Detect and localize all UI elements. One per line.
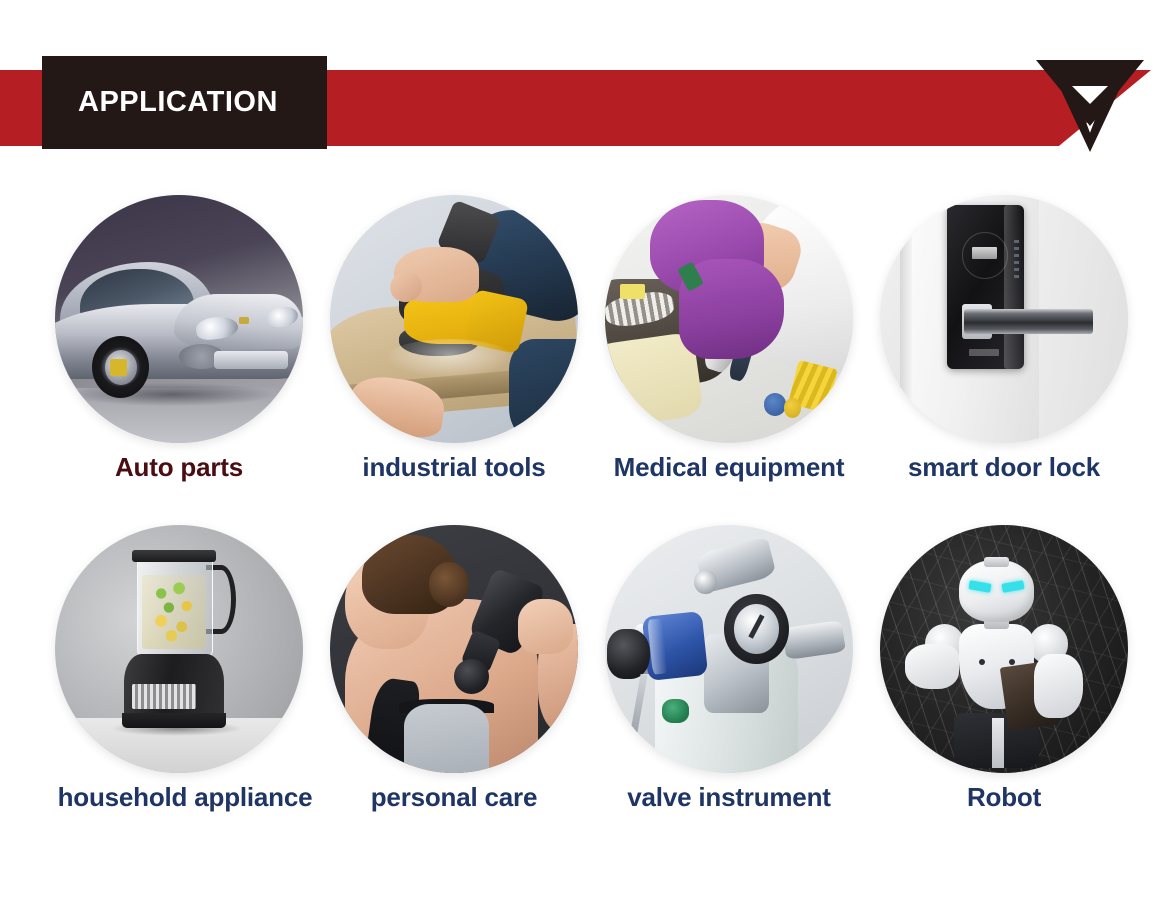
smart-door-lock-image xyxy=(880,195,1128,443)
application-item-smart-door-lock[interactable]: smart door lock xyxy=(858,190,1150,520)
gas-regulator-illustration xyxy=(605,525,853,773)
application-item-medical-equipment[interactable]: Medical equipment xyxy=(583,190,875,520)
brand-triangle-v-logo xyxy=(1036,60,1144,152)
blender-illustration xyxy=(55,525,303,773)
medical-equipment-image xyxy=(605,195,853,443)
household-appliance-image xyxy=(55,525,303,773)
massage-gun-illustration xyxy=(330,525,578,773)
auto-parts-image xyxy=(55,195,303,443)
robot-blackboard-illustration xyxy=(880,525,1128,773)
application-label: smart door lock xyxy=(834,452,1169,483)
application-label: industrial tools xyxy=(308,452,600,483)
application-label: Auto parts xyxy=(33,452,325,483)
orbital-sander-illustration xyxy=(330,195,578,443)
silver-sports-car-illustration xyxy=(55,195,303,443)
application-label: valve instrument xyxy=(559,782,899,813)
application-item-auto-parts[interactable]: Auto parts xyxy=(33,190,325,520)
application-label: personal care xyxy=(308,782,600,813)
robot-image xyxy=(880,525,1128,773)
application-banner: APPLICATION xyxy=(0,0,1169,170)
smart-lock-illustration xyxy=(880,195,1128,443)
application-item-robot[interactable]: Robot xyxy=(858,520,1150,850)
application-row: Auto parts xyxy=(0,190,1169,520)
application-item-industrial-tools[interactable]: industrial tools xyxy=(308,190,600,520)
application-item-household-appliance[interactable]: household appliance xyxy=(33,520,325,850)
banner-title-box: APPLICATION xyxy=(42,56,327,149)
application-label: Robot xyxy=(858,782,1150,813)
application-row: household appliance xyxy=(0,520,1169,850)
industrial-tools-image xyxy=(330,195,578,443)
application-item-valve-instrument[interactable]: valve instrument xyxy=(583,520,875,850)
pipette-gloved-hands-illustration xyxy=(605,195,853,443)
valve-instrument-image xyxy=(605,525,853,773)
page-title: APPLICATION xyxy=(42,86,278,119)
personal-care-image xyxy=(330,525,578,773)
application-item-personal-care[interactable]: personal care xyxy=(308,520,600,850)
application-label: household appliance xyxy=(15,782,355,813)
application-grid: Auto parts xyxy=(0,170,1169,907)
